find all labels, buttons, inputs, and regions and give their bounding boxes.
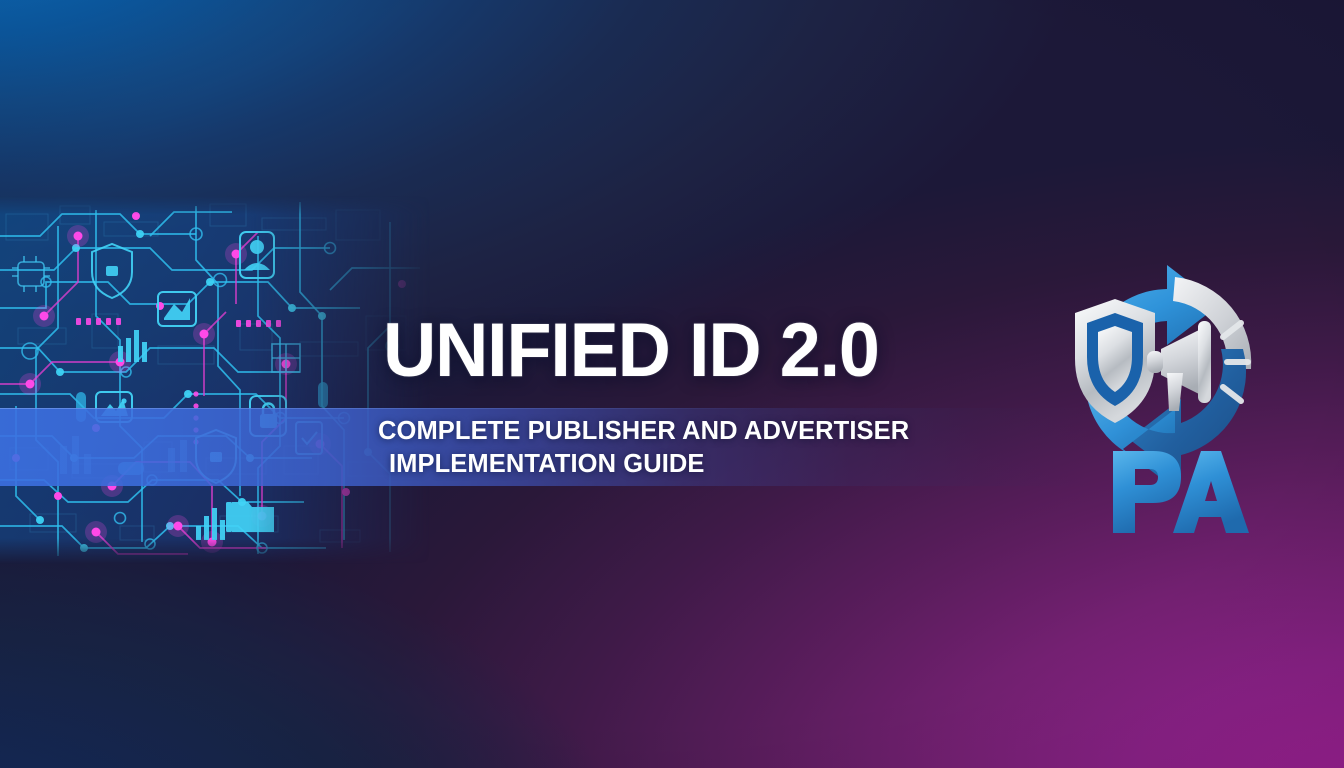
brand-logo: PA — [1055, 243, 1270, 533]
page-title: UNIFIED ID 2.0 — [383, 313, 879, 389]
subtitle-line-1: COMPLETE PUBLISHER AND ADVERTISER — [378, 417, 909, 445]
circuit-board-decoration — [0, 196, 430, 564]
subtitle: COMPLETE PUBLISHER AND ADVERTISER IMPLEM… — [378, 415, 1018, 481]
brand-logo-graphic — [1055, 243, 1270, 533]
subtitle-line-2: IMPLEMENTATION GUIDE — [378, 448, 1018, 481]
banner-hero: UNIFIED ID 2.0 COMPLETE PUBLISHER AND AD… — [0, 0, 1344, 768]
shield-icon — [1075, 299, 1155, 423]
circuit-traces-graphic — [0, 196, 430, 564]
